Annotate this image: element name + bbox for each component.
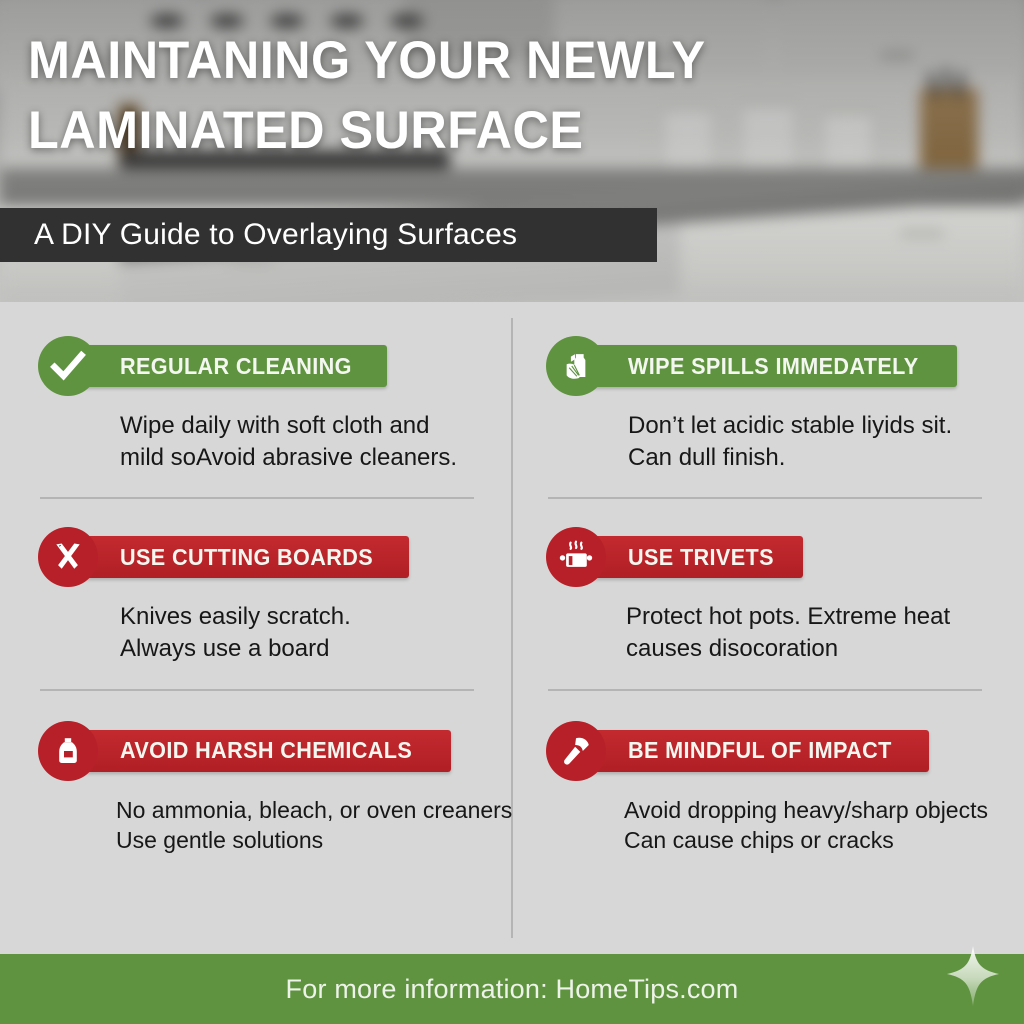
page-title-line-1: MAINTANING YOUR NEWLY: [28, 26, 807, 96]
tip-divider: [548, 497, 982, 499]
tip-header: USE TRIVETS: [546, 527, 1018, 587]
tip-heading-label: REGULAR CLEANING: [120, 353, 352, 380]
tip-card-wipe-spills-immedately: WIPE SPILLS IMMEDATELYDon’t let acidic s…: [546, 336, 1018, 473]
tip-description: Knives easily scratch.Always use a board: [38, 601, 510, 664]
tip-description-line: Avoid dropping heavy/sharp objects: [624, 795, 1018, 825]
hammer-icon: [546, 721, 606, 781]
tip-header: WIPE SPILLS IMMEDATELY: [546, 336, 1018, 396]
tip-description-line: causes disocoration: [626, 633, 1018, 665]
tip-header: BE MINDFUL OF IMPACT: [546, 721, 1018, 781]
tip-heading-label: AVOID HARSH CHEMICALS: [120, 737, 412, 764]
page-subtitle: A DIY Guide to Overlaying Surfaces: [0, 218, 517, 252]
tip-heading-bar: AVOID HARSH CHEMICALS: [80, 730, 451, 772]
tip-heading-bar: USE TRIVETS: [588, 536, 803, 578]
hero-banner: MAINTANING YOUR NEWLY LAMINATED SURFACE …: [0, 0, 1024, 302]
tips-column-left: REGULAR CLEANINGWipe daily with soft clo…: [38, 302, 510, 855]
tip-description-line: Use gentle solutions: [116, 825, 510, 855]
tip-description-line: Can dull finish.: [628, 442, 1018, 474]
tip-description: Wipe daily with soft cloth andmild soAvo…: [38, 410, 510, 473]
tip-heading-label: WIPE SPILLS IMMEDATELY: [628, 353, 919, 380]
tip-header: AVOID HARSH CHEMICALS: [38, 721, 510, 781]
chemical-bottle-icon: [38, 721, 98, 781]
footer-text: For more information: HomeTips.com: [286, 974, 739, 1005]
tip-header: USE CUTTING BOARDS: [38, 527, 510, 587]
page-title-line-2: LAMINATED SURFACE: [28, 96, 807, 166]
tip-heading-label: USE CUTTING BOARDS: [120, 544, 373, 571]
tips-section: REGULAR CLEANINGWipe daily with soft clo…: [0, 302, 1024, 954]
tip-description-line: Always use a board: [120, 633, 510, 665]
tip-heading-bar: REGULAR CLEANING: [80, 345, 387, 387]
tip-description-line: Can cause chips or cracks: [624, 825, 1018, 855]
tip-card-avoid-harsh-chemicals: AVOID HARSH CHEMICALSNo ammonia, bleach,…: [38, 721, 510, 856]
tip-description: Protect hot pots. Extreme heatcauses dis…: [546, 601, 1018, 664]
tip-divider: [40, 497, 474, 499]
tip-heading-label: BE MINDFUL OF IMPACT: [628, 737, 892, 764]
tip-card-use-trivets: USE TRIVETSProtect hot pots. Extreme hea…: [546, 527, 1018, 664]
tip-card-regular-cleaning: REGULAR CLEANINGWipe daily with soft clo…: [38, 336, 510, 473]
tip-divider: [548, 689, 982, 691]
tip-divider: [40, 689, 474, 691]
hot-pot-icon: [546, 527, 606, 587]
tip-card-use-cutting-boards: USE CUTTING BOARDSKnives easily scratch.…: [38, 527, 510, 664]
tip-description: No ammonia, bleach, or oven creanersUse …: [38, 795, 510, 856]
column-divider: [511, 318, 513, 938]
tip-description: Avoid dropping heavy/sharp objectsCan ca…: [546, 795, 1018, 856]
tip-description-line: No ammonia, bleach, or oven creaners: [116, 795, 510, 825]
tip-description-line: Protect hot pots. Extreme heat: [626, 601, 1018, 633]
tip-description-line: mild soAvoid abrasive cleaners.: [120, 442, 510, 474]
footer-bar: For more information: HomeTips.com: [0, 954, 1024, 1024]
check-icon: [38, 336, 98, 396]
page-title: MAINTANING YOUR NEWLY LAMINATED SURFACE: [28, 26, 807, 166]
tip-description-line: Knives easily scratch.: [120, 601, 510, 633]
tip-description: Don’t let acidic stable liyids sit.Can d…: [546, 410, 1018, 473]
tip-heading-bar: USE CUTTING BOARDS: [80, 536, 409, 578]
tip-description-line: Don’t let acidic stable liyids sit.: [628, 410, 1018, 442]
tip-heading-bar: BE MINDFUL OF IMPACT: [588, 730, 929, 772]
tips-column-right: WIPE SPILLS IMMEDATELYDon’t let acidic s…: [546, 302, 1018, 855]
crossed-knives-icon: [38, 527, 98, 587]
tip-heading-label: USE TRIVETS: [628, 544, 774, 571]
spray-bottle-cloth-icon: [546, 336, 606, 396]
tip-description-line: Wipe daily with soft cloth and: [120, 410, 510, 442]
subtitle-band: A DIY Guide to Overlaying Surfaces: [0, 208, 657, 262]
tip-header: REGULAR CLEANING: [38, 336, 510, 396]
tip-heading-bar: WIPE SPILLS IMMEDATELY: [588, 345, 957, 387]
tip-card-be-mindful-of-impact: BE MINDFUL OF IMPACTAvoid dropping heavy…: [546, 721, 1018, 856]
